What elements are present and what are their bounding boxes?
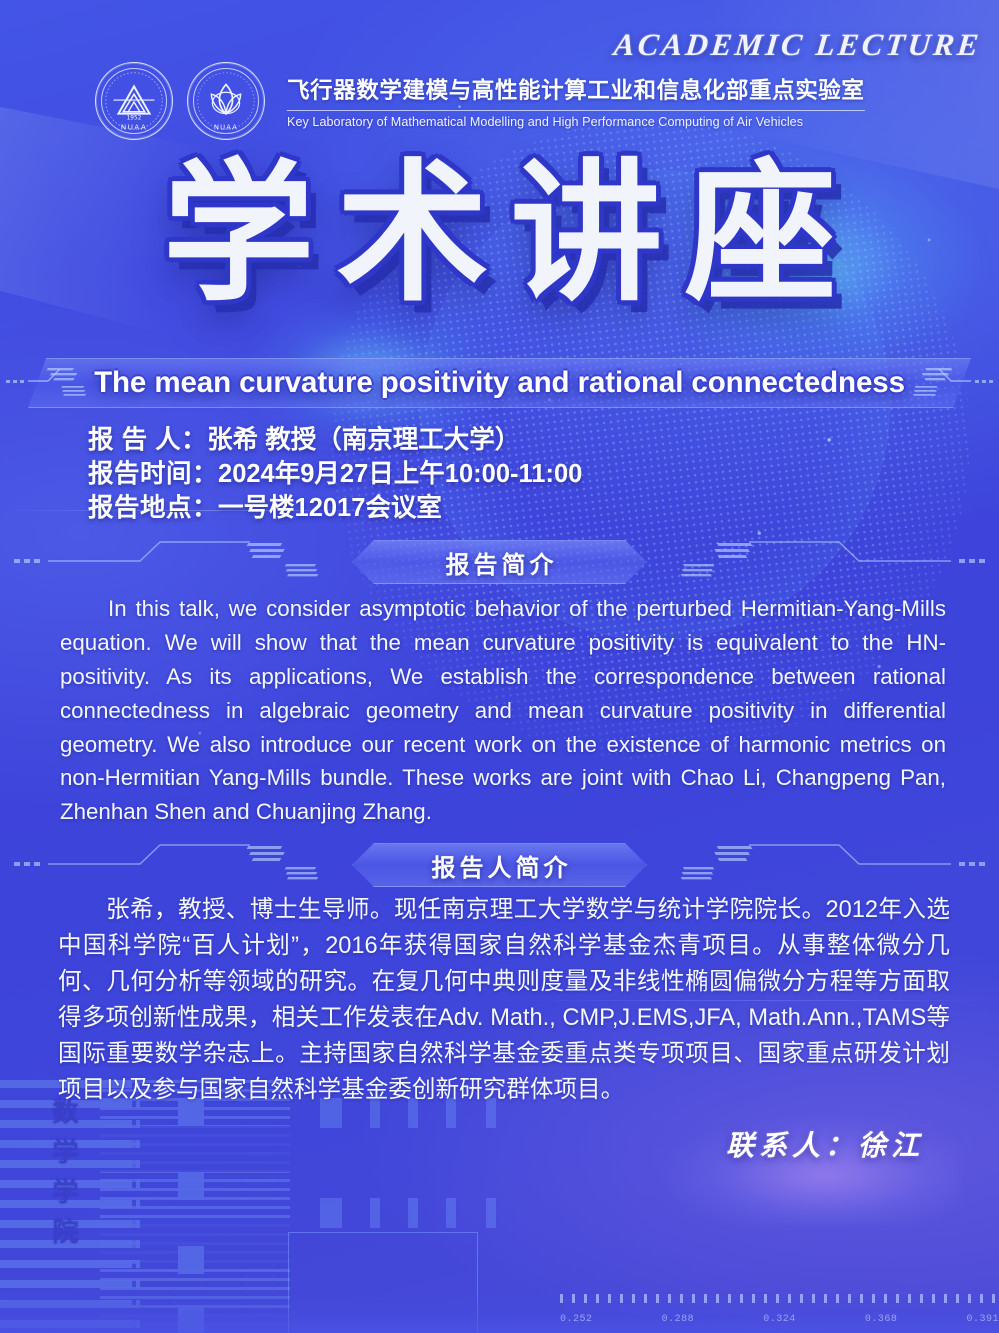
speaker-row: 报 告 人：张希 教授（南京理工大学） <box>88 424 888 458</box>
speaker-value: 张希 教授（南京理工大学） <box>207 426 520 454</box>
time-label: 报告时间： <box>88 460 218 488</box>
bio-section-banner: 报告人简介 <box>0 843 999 887</box>
poster-header: 1952 NUAA NUAA 飞行器数学建模与高性能计算工业和信息化部重点实验室… <box>95 62 905 140</box>
bio-heading: 报告人简介 <box>0 843 999 887</box>
time-row: 报告时间：2024年9月27日上午10:00-11:00 <box>88 458 888 492</box>
tick-marks <box>560 1294 999 1303</box>
lab-name-cn: 飞行器数学建模与高性能计算工业和信息化部重点实验室 <box>287 73 865 105</box>
eyebrow-academic-lecture: ACADEMIC LECTURE <box>612 27 983 63</box>
svg-text:NUAA: NUAA <box>121 122 147 131</box>
venue-value: 一号楼12017会议室 <box>218 494 442 522</box>
venue-row: 报告地点：一号楼12017会议室 <box>88 492 888 526</box>
page-title: 学术讲座 <box>0 158 999 310</box>
svg-text:1952: 1952 <box>127 116 142 122</box>
bottom-number: 0.391 <box>966 1314 999 1325</box>
bottom-number-row: 0.252 0.288 0.324 0.368 0.391 <box>560 1314 999 1325</box>
speaker-label: 报 告 人： <box>88 426 207 454</box>
time-value: 2024年9月27日上午10:00-11:00 <box>218 460 582 488</box>
svg-text:NUAA: NUAA <box>214 123 238 131</box>
bottom-number: 0.288 <box>662 1314 695 1325</box>
lab-title-block: 飞行器数学建模与高性能计算工业和信息化部重点实验室 Key Laboratory… <box>279 73 865 129</box>
abstract-section-banner: 报告简介 <box>0 540 999 584</box>
lecture-meta: 报 告 人：张希 教授（南京理工大学） 报告时间：2024年9月27日上午10:… <box>88 424 888 526</box>
school-name-vertical: 数学学院 <box>46 1098 83 1258</box>
bottom-number: 0.368 <box>865 1314 898 1325</box>
nuaa-crest-left-icon: 1952 NUAA <box>95 62 173 140</box>
nuaa-crest-right-icon: NUAA <box>187 62 265 140</box>
bottom-number: 0.324 <box>763 1314 796 1325</box>
abstract-heading: 报告简介 <box>0 540 999 584</box>
contact-person: 联系人：徐江 <box>726 1124 924 1164</box>
bottom-number: 0.252 <box>560 1314 593 1325</box>
abstract-text: In this talk, we consider asymptotic beh… <box>60 592 946 829</box>
bio-text: 张希，教授、博士生导师。现任南京理工大学数学与统计学院院长。2012年入选中国科… <box>58 892 950 1109</box>
venue-label: 报告地点： <box>88 494 218 522</box>
divider <box>287 110 865 111</box>
english-title-banner: The mean curvature positivity and ration… <box>0 358 999 408</box>
lab-name-en: Key Laboratory of Mathematical Modelling… <box>287 115 865 129</box>
lecture-poster: 数学学院 ACADEMIC LECTURE 1952 NUAA NUAA <box>0 0 999 1333</box>
english-title: The mean curvature positivity and ration… <box>0 358 999 408</box>
